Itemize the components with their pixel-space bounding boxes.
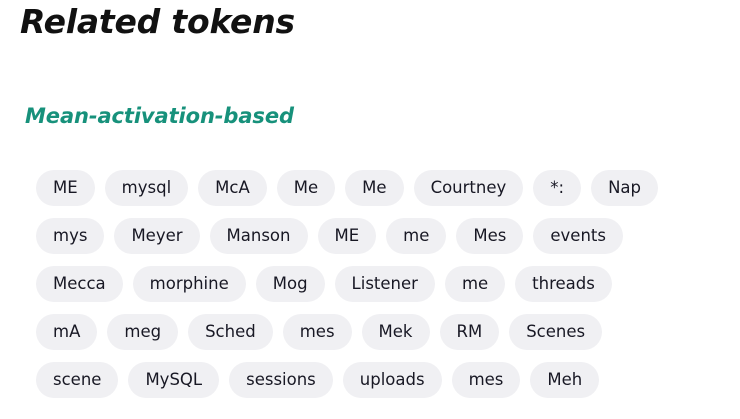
token-chip[interactable]: me (386, 218, 446, 254)
token-chip[interactable]: mysql (105, 170, 189, 206)
token-chip[interactable]: Sched (188, 314, 273, 350)
token-chip[interactable]: sessions (229, 362, 333, 398)
token-chip-row: sceneMySQLsessionsuploadsmesMeh (36, 362, 726, 398)
section-title-mean-activation-based: Mean-activation-based (25, 104, 294, 128)
token-chip[interactable]: mys (36, 218, 104, 254)
token-chip[interactable]: Mek (362, 314, 430, 350)
token-chip[interactable]: Me (277, 170, 335, 206)
token-chip-row: mysMeyerMansonMEmeMesevents (36, 218, 726, 254)
token-chip[interactable]: *: (533, 170, 581, 206)
token-chip[interactable]: threads (515, 266, 612, 302)
token-chip[interactable]: ME (318, 218, 377, 254)
token-chip[interactable]: scene (36, 362, 118, 398)
token-chip[interactable]: meg (107, 314, 178, 350)
token-chip[interactable]: mes (452, 362, 521, 398)
token-chip-row: MeccamorphineMogListenermethreads (36, 266, 726, 302)
token-chip[interactable]: Mog (256, 266, 325, 302)
token-chip[interactable]: ME (36, 170, 95, 206)
token-chip[interactable]: mes (283, 314, 352, 350)
token-chip[interactable]: Courtney (414, 170, 524, 206)
page-title: Related tokens (20, 2, 295, 41)
token-chip[interactable]: Nap (591, 170, 658, 206)
token-chip[interactable]: events (533, 218, 623, 254)
token-chip[interactable]: MySQL (128, 362, 219, 398)
token-chip[interactable]: McA (198, 170, 267, 206)
token-chip[interactable]: RM (440, 314, 500, 350)
token-chip[interactable]: Mes (456, 218, 523, 254)
token-chip[interactable]: uploads (343, 362, 442, 398)
token-chip[interactable]: morphine (133, 266, 246, 302)
token-chip[interactable]: Mecca (36, 266, 123, 302)
token-chip[interactable]: Listener (335, 266, 435, 302)
token-chip-row: MEmysqlMcAMeMeCourtney*:Nap (36, 170, 726, 206)
token-chip-row: mAmegSchedmesMekRMScenes (36, 314, 726, 350)
token-chip[interactable]: Manson (210, 218, 308, 254)
token-chip[interactable]: Me (345, 170, 403, 206)
token-chip[interactable]: Scenes (509, 314, 602, 350)
related-tokens-page: Related tokens Mean-activation-based MEm… (0, 0, 740, 419)
token-chip[interactable]: me (445, 266, 505, 302)
token-chip[interactable]: Meyer (114, 218, 199, 254)
token-chip[interactable]: mA (36, 314, 97, 350)
token-chip[interactable]: Meh (530, 362, 599, 398)
token-chip-list: MEmysqlMcAMeMeCourtney*:NapmysMeyerManso… (36, 170, 726, 410)
